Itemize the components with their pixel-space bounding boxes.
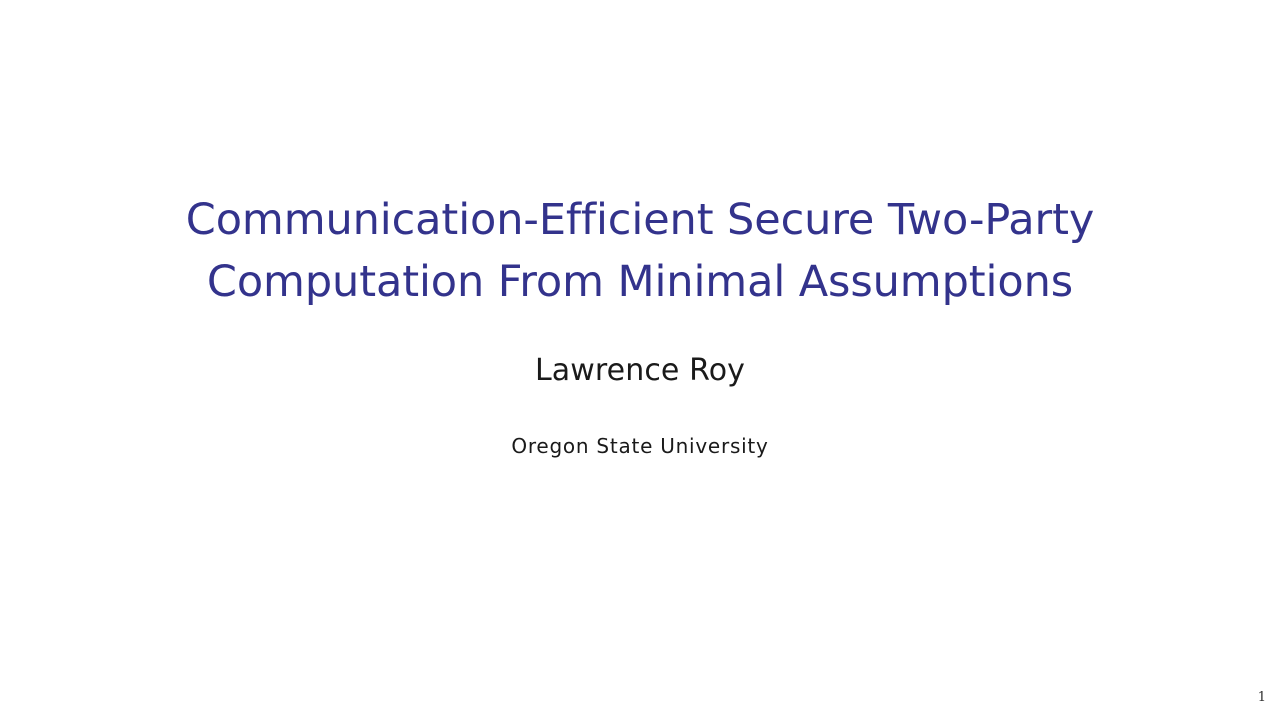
- title-line-2: Computation From Minimal Assumptions: [140, 251, 1140, 313]
- presentation-slide: Communication-Efficient Secure Two-Party…: [0, 0, 1280, 720]
- institute-name: Oregon State University: [511, 432, 768, 460]
- page-number: 1: [1258, 690, 1266, 705]
- author-name: Lawrence Roy: [535, 352, 745, 390]
- page-title: Communication-Efficient Secure Two-Party…: [140, 189, 1140, 313]
- title-line-1: Communication-Efficient Secure Two-Party: [140, 189, 1140, 251]
